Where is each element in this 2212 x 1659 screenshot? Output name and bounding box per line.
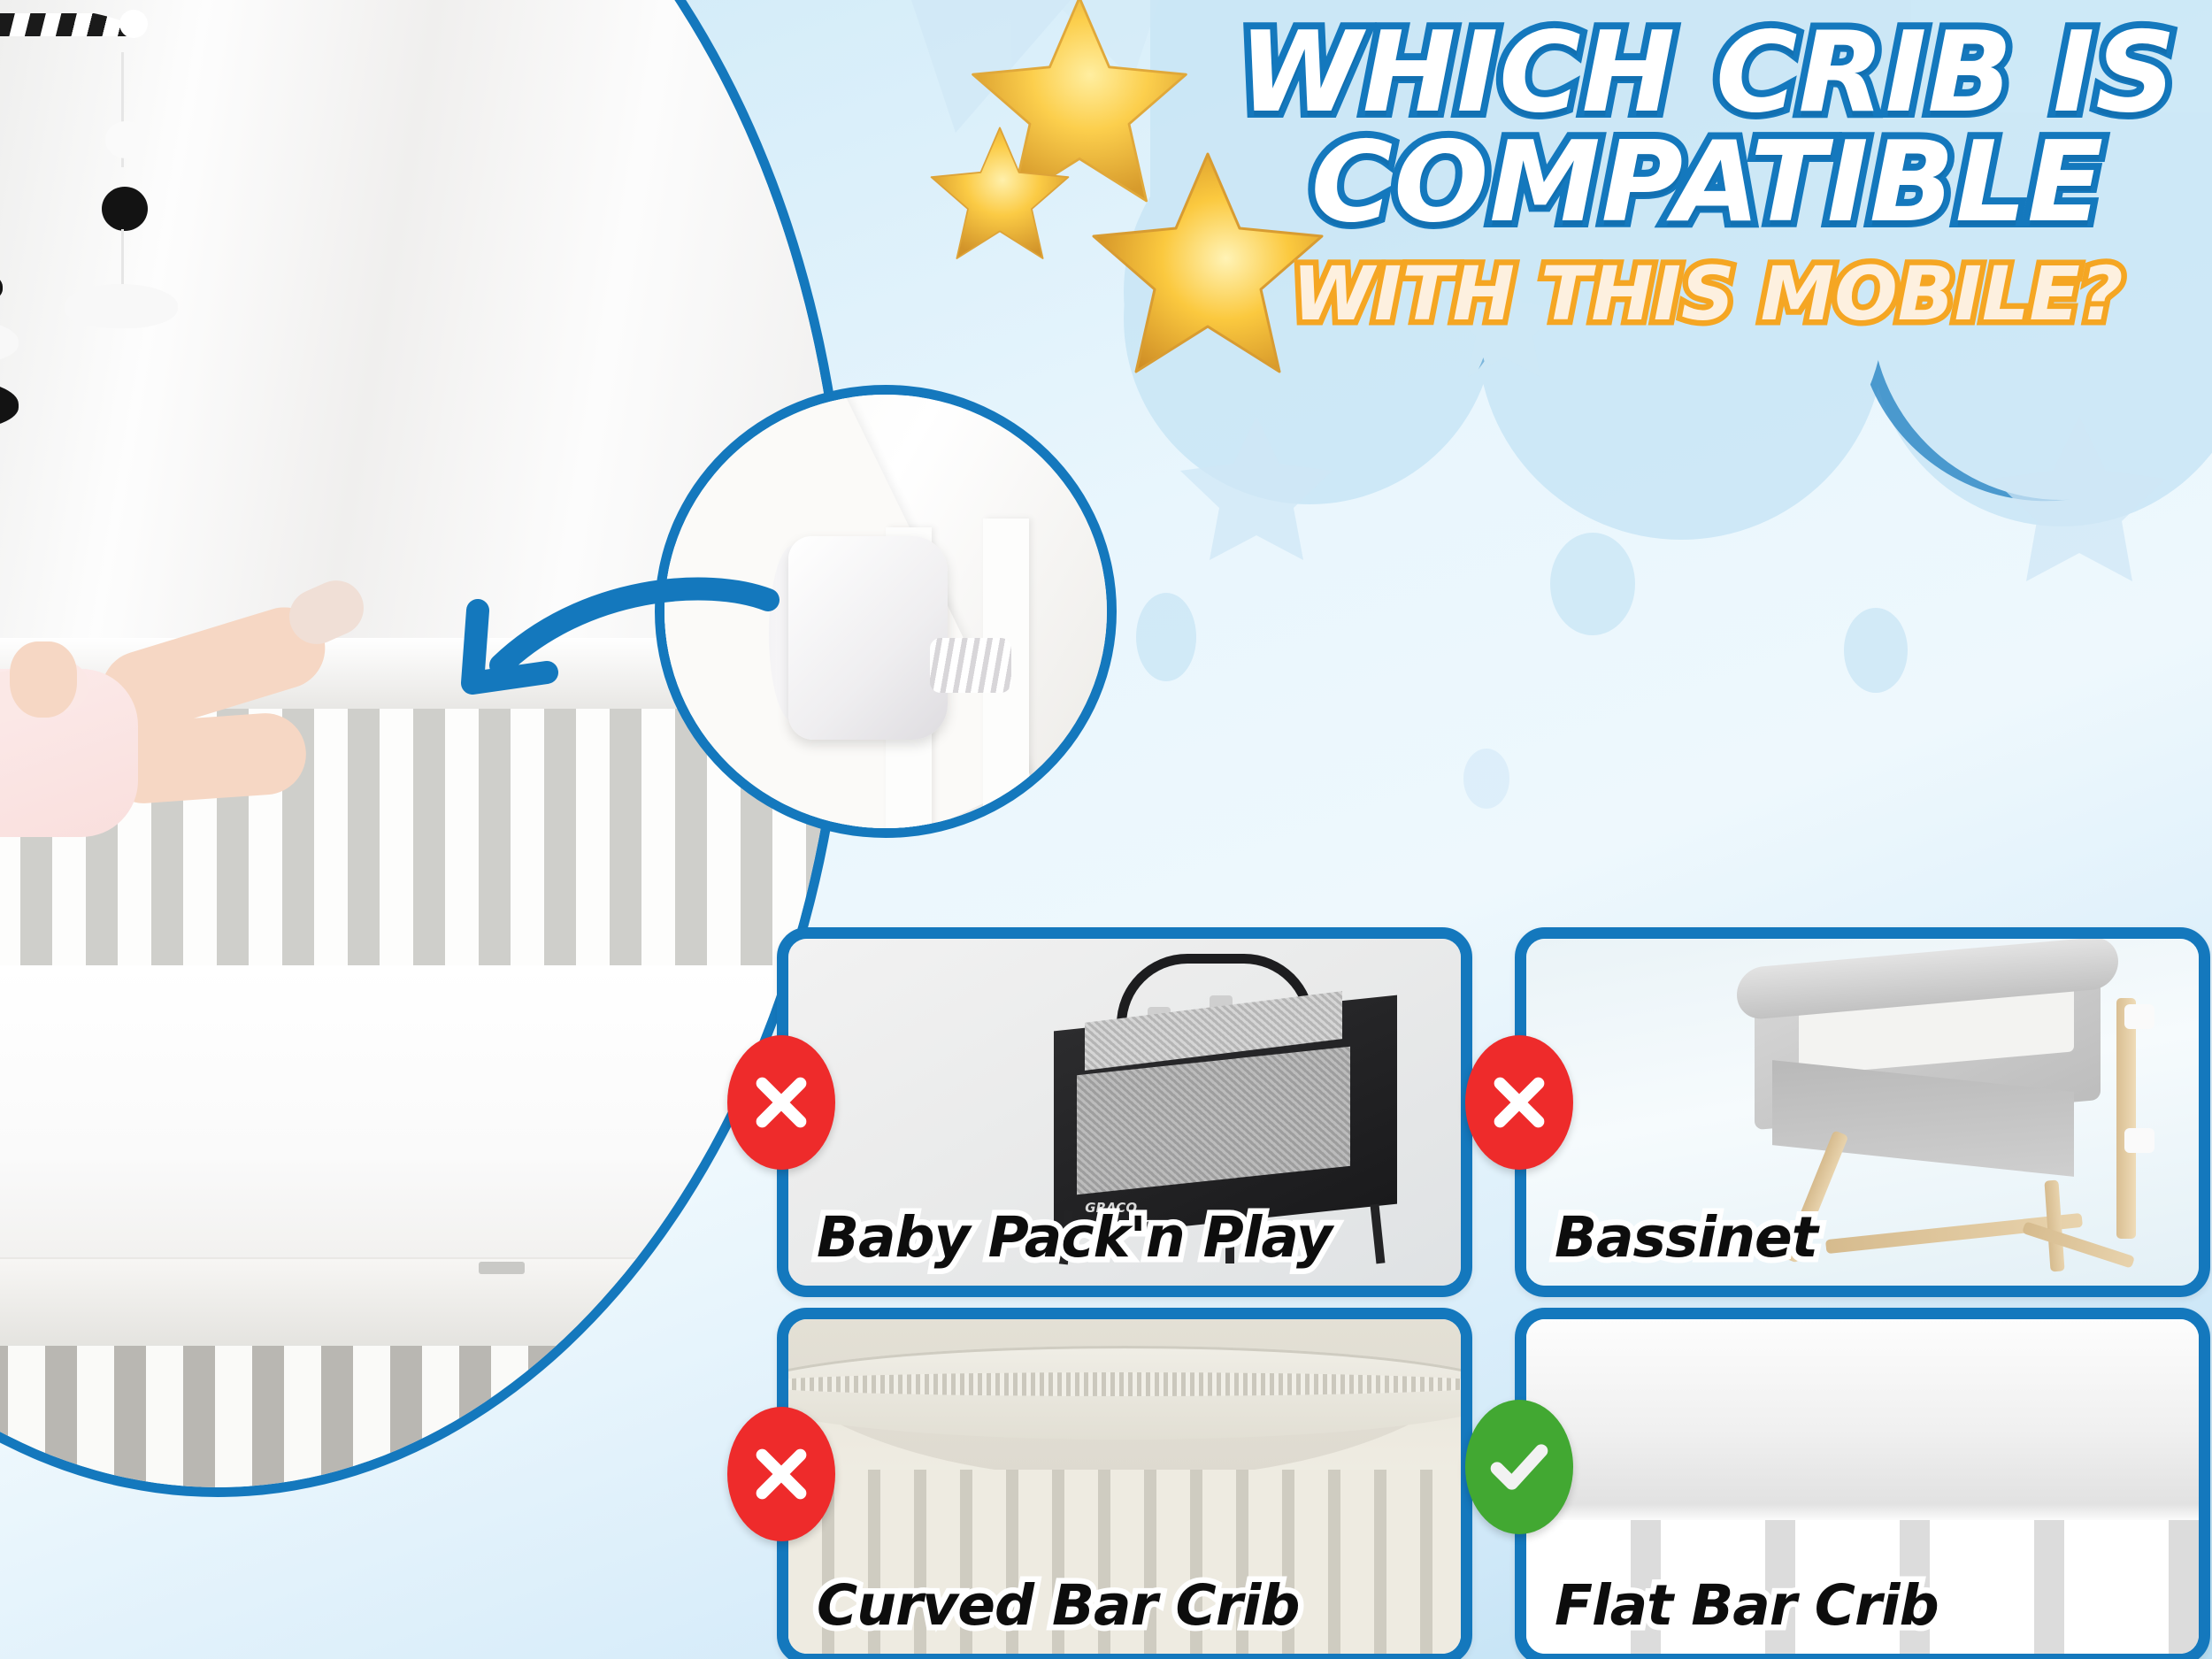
card-flat-bar-crib[interactable]: Flat Bar Crib xyxy=(1515,1308,2210,1659)
check-icon xyxy=(1484,1432,1555,1502)
bassinet-post xyxy=(2116,998,2136,1240)
star-icon xyxy=(920,115,1079,274)
card-label-flat-bar-crib: Flat Bar Crib xyxy=(1555,1573,1939,1638)
pompom xyxy=(102,187,148,231)
status-badge-incompatible xyxy=(727,1035,835,1170)
card-curved-bar-crib[interactable]: Curved Bar Crib xyxy=(777,1308,1472,1659)
cross-icon xyxy=(1486,1070,1552,1135)
headline-line-2: COMPATIBLE xyxy=(1203,129,2212,235)
under-crib-slats xyxy=(0,1346,841,1487)
flat-rail xyxy=(1526,1319,2199,1520)
headline-subline: WITH THIS MOBILE? xyxy=(1203,250,2212,337)
mobile-pillow xyxy=(65,284,178,328)
cross-icon xyxy=(749,1441,814,1507)
status-badge-incompatible xyxy=(1465,1035,1573,1170)
card-label-bassinet: Bassinet xyxy=(1555,1205,1817,1270)
card-baby-pack-n-play[interactable]: GRACO Baby Pack'n Play xyxy=(777,927,1472,1297)
mattress-edge xyxy=(0,1257,841,1348)
baby-hand xyxy=(10,641,77,718)
curved-arrow-icon xyxy=(416,566,787,858)
bassinet-clip xyxy=(2124,1128,2154,1153)
bubble-cluster xyxy=(1136,533,1908,809)
card-label-pack-n-play: Baby Pack'n Play xyxy=(817,1205,1332,1270)
pnp-leg xyxy=(1371,1204,1386,1264)
bar-endcap xyxy=(119,10,148,38)
status-badge-incompatible xyxy=(727,1407,835,1541)
card-bassinet[interactable]: Bassinet xyxy=(1515,927,2210,1297)
baby-photo xyxy=(0,620,346,912)
headline-line-1: WHICH CRIB IS xyxy=(1203,19,2212,126)
status-badge-compatible xyxy=(1465,1400,1573,1534)
pointer-arrow xyxy=(416,566,787,858)
clamp-screw xyxy=(930,638,1011,693)
pompom xyxy=(105,121,146,158)
crib-mattress xyxy=(0,965,841,1284)
crib-hinge xyxy=(479,1262,525,1274)
card-label-curved-bar-crib: Curved Bar Crib xyxy=(817,1573,1300,1638)
cross-icon xyxy=(749,1070,814,1135)
bassinet-clip xyxy=(2124,1004,2154,1029)
promo-poster: Gini Gino xyxy=(0,0,2212,1659)
bead-molding xyxy=(788,1372,1461,1395)
headline-block: WHICH CRIB IS COMPATIBLE WITH THIS MOBIL… xyxy=(1203,19,2212,337)
mobile-clamp xyxy=(788,536,948,740)
mobile-crossbar xyxy=(0,0,141,77)
